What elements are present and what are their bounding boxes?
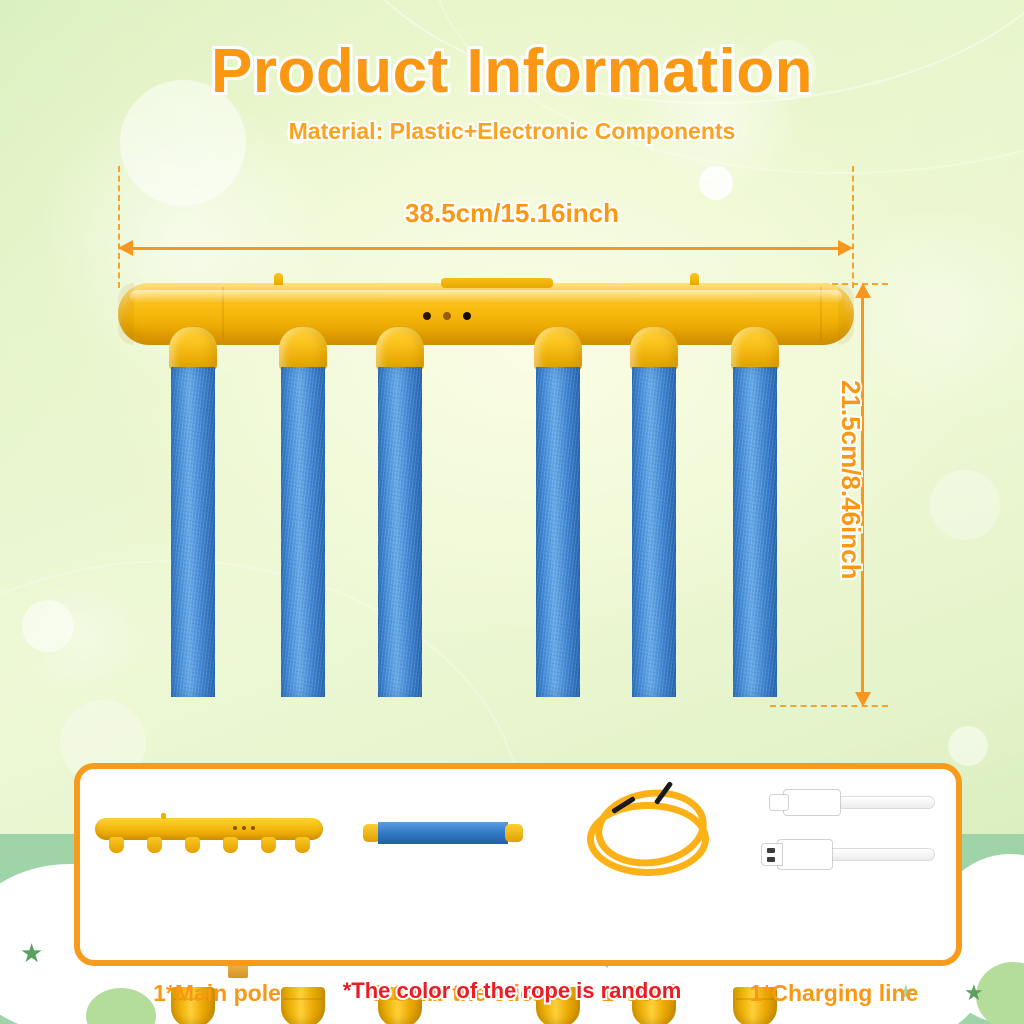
charging-line-icon [762,788,932,874]
rope-color-note: *The color of the rope is random [0,978,1024,1004]
grab-stick-icon [363,822,523,844]
stick-foam [281,367,325,697]
stick-socket [169,327,217,371]
height-arrow-up [855,283,871,298]
height-arrow-down [855,692,871,707]
stick-foam [632,367,676,697]
cord-icon [583,786,707,874]
bokeh-7 [948,726,988,766]
stick-socket [376,327,424,371]
main-pole-icon [95,818,323,840]
led-indicator-group [423,312,471,320]
stick-foam [171,367,215,697]
page-title: Product Information [0,36,1024,107]
led-dot-3 [463,312,471,320]
stick-foam [378,367,422,697]
page-subtitle: Material: Plastic+Electronic Components [0,118,1024,145]
bokeh-5 [930,470,1000,540]
stick-foam [733,367,777,697]
star-icon-left: ★ [20,940,43,966]
stick-socket [630,327,678,371]
stick-foam [536,367,580,697]
stick-socket [731,327,779,371]
width-arrow-left [118,240,133,256]
bokeh-6 [22,600,74,652]
led-dot-1 [423,312,431,320]
bokeh-2 [699,166,733,200]
height-dimension-label: 21.5cm/8.46inch [835,380,866,620]
stick-socket [534,327,582,371]
led-dot-2 [443,312,451,320]
width-dimension-label: 38.5cm/15.16inch [0,198,1024,229]
stick-socket [279,327,327,371]
width-arrow-right [838,240,853,256]
infographic-canvas: ★ ★ ★ Product Information Material: Plas… [0,0,1024,1024]
width-dimension-line [125,247,847,250]
